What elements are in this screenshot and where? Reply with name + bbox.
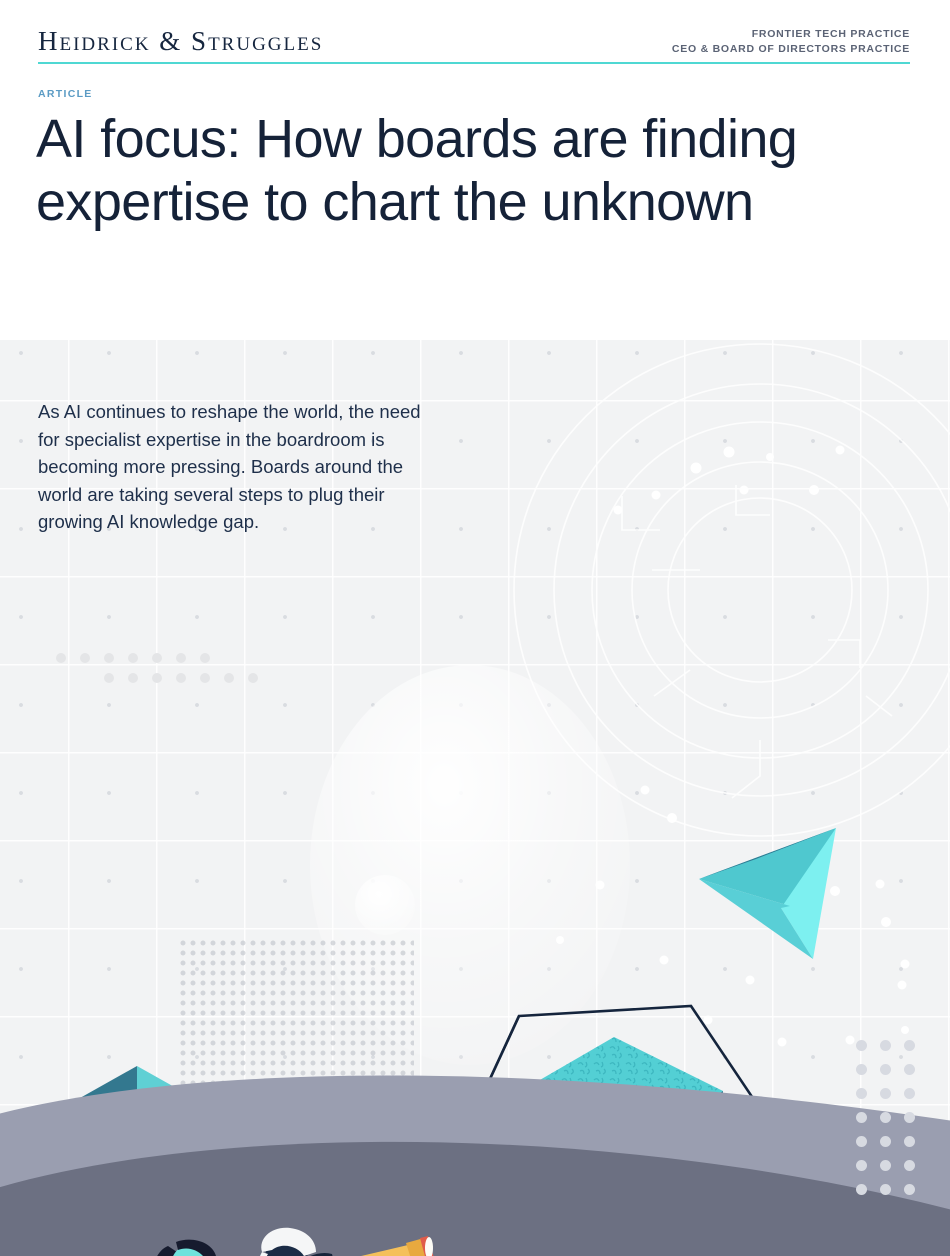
dot-row-lower: [104, 670, 272, 688]
article-cover-page: Heidrick & Struggles FRONTIER TECH PRACT…: [0, 0, 950, 1256]
small-bubble: [355, 875, 415, 935]
practice-line-ceo-board: CEO & BOARD OF DIRECTORS PRACTICE: [672, 42, 910, 57]
content-type-kicker: ARTICLE: [38, 88, 93, 100]
practice-line-frontier-tech: FRONTIER TECH PRACTICE: [672, 27, 910, 42]
brand-logo[interactable]: Heidrick & Struggles: [38, 26, 323, 57]
header-divider-rule: [38, 62, 910, 64]
hero-illustration-section: As AI continues to reshape the world, th…: [0, 340, 950, 1256]
dot-grid-cluster: [856, 1040, 928, 1208]
hero-blurb: As AI continues to reshape the world, th…: [38, 398, 438, 536]
page-title: AI focus: How boards are finding experti…: [36, 108, 906, 234]
dot-row-upper: [56, 650, 224, 668]
page-header: Heidrick & Struggles FRONTIER TECH PRACT…: [0, 0, 950, 340]
paper-plane-icon: [699, 828, 836, 959]
practice-labels: FRONTIER TECH PRACTICE CEO & BOARD OF DI…: [672, 27, 910, 57]
